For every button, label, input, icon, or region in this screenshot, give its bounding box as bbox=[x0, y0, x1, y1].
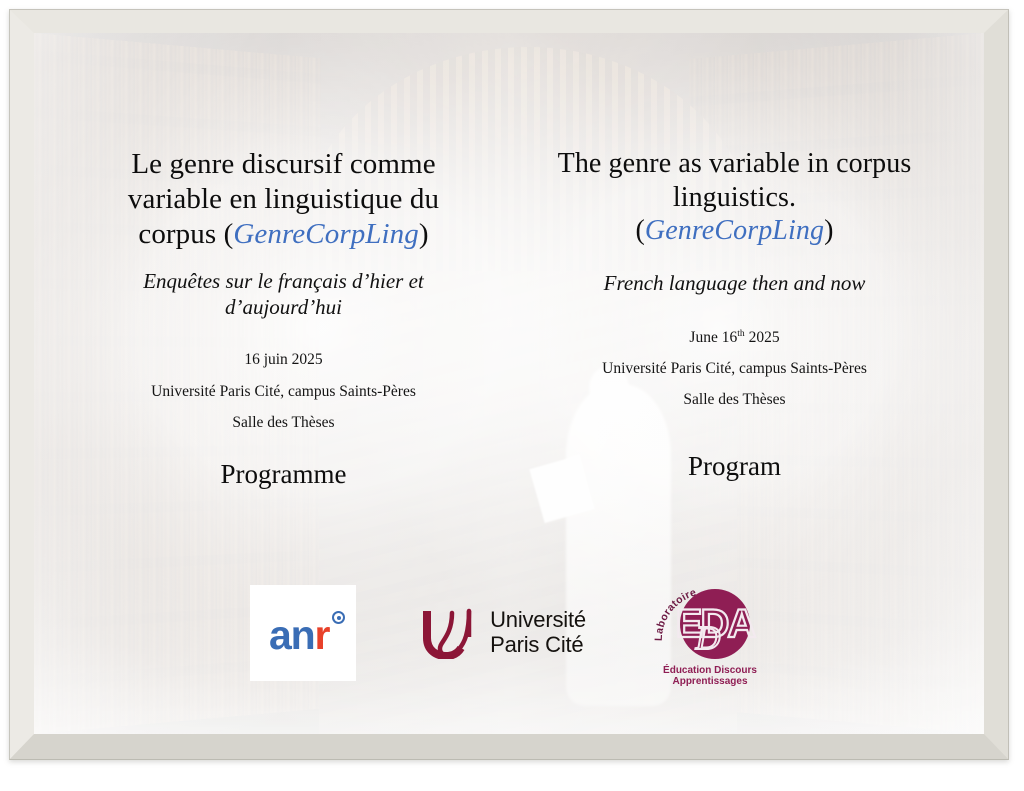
program-heading-english: Program bbox=[525, 452, 944, 482]
upc-monogram-icon bbox=[422, 607, 478, 659]
event-venue-english: Université Paris Cité, campus Saints-Pèr… bbox=[525, 353, 944, 384]
column-french: Le genre discursif comme variable en lin… bbox=[34, 147, 509, 490]
event-date-english: June 16th 2025 bbox=[525, 322, 944, 353]
page-title-english: The genre as variable in corpus linguist… bbox=[525, 147, 944, 248]
title-line-3-suffix: ) bbox=[419, 218, 429, 250]
project-name-english: GenreCorpLing bbox=[645, 215, 824, 246]
anr-wordmark: anr bbox=[269, 615, 329, 656]
title-line-3-prefix: corpus ( bbox=[138, 218, 233, 250]
event-date-prefix: June 16 bbox=[689, 329, 737, 346]
project-name-french: GenreCorpLing bbox=[233, 218, 419, 250]
sponsor-logos: anr Université Paris Cité bbox=[34, 563, 984, 703]
program-heading-french: Programme bbox=[74, 460, 493, 490]
title-line-1: Le genre discursif comme bbox=[131, 148, 435, 180]
title-line-1: The genre as variable in corpus bbox=[558, 148, 912, 179]
title-line-3-prefix: ( bbox=[635, 215, 644, 246]
upc-wordmark-line-1: Université bbox=[490, 607, 586, 632]
title-line-2: variable en linguistique du bbox=[128, 183, 439, 215]
eda-logo-icon: Laboratoire EDA D Éducation Discours App… bbox=[652, 577, 768, 689]
event-details-english: June 16th 2025 Université Paris Cité, ca… bbox=[525, 322, 944, 416]
subtitle-english: French language then and now bbox=[525, 270, 944, 296]
subtitle-french: Enquêtes sur le français d’hier et d’auj… bbox=[74, 268, 493, 320]
subtitle-line-2: d’aujourd’hui bbox=[225, 295, 342, 319]
event-room-english: Salle des Thèses bbox=[525, 384, 944, 415]
event-details-french: 16 juin 2025 Université Paris Cité, camp… bbox=[74, 344, 493, 438]
subtitle-line-1: Enquêtes sur le français d’hier et bbox=[143, 269, 424, 293]
title-line-2: linguistics. bbox=[673, 182, 796, 213]
event-date-french: 16 juin 2025 bbox=[74, 344, 493, 375]
universite-paris-cite-logo: Université Paris Cité bbox=[422, 607, 586, 659]
subtitle-line-1: French language then and now bbox=[604, 271, 866, 295]
svg-text:Apprentissages: Apprentissages bbox=[672, 676, 747, 687]
eda-laboratory-logo: Laboratoire EDA D Éducation Discours App… bbox=[652, 577, 768, 689]
page-title-french: Le genre discursif comme variable en lin… bbox=[74, 147, 493, 251]
title-line-3-suffix: ) bbox=[824, 215, 833, 246]
event-date-suffix: 2025 bbox=[745, 329, 780, 346]
anr-wordmark-red: r bbox=[314, 612, 329, 658]
anr-registered-circle-icon bbox=[332, 611, 345, 624]
upc-wordmark-line-2: Paris Cité bbox=[490, 632, 583, 657]
anr-logo: anr bbox=[250, 585, 356, 681]
poster-canvas: Le genre discursif comme variable en lin… bbox=[0, 0, 1024, 791]
poster-artwork: Le genre discursif comme variable en lin… bbox=[34, 33, 984, 734]
event-date-ordinal: th bbox=[737, 328, 744, 339]
poster-content: Le genre discursif comme variable en lin… bbox=[34, 33, 984, 734]
upc-wordmark: Université Paris Cité bbox=[490, 608, 586, 657]
column-english: The genre as variable in corpus linguist… bbox=[509, 147, 984, 490]
event-room-french: Salle des Thèses bbox=[74, 407, 493, 438]
svg-text:D: D bbox=[695, 620, 721, 657]
bilingual-columns: Le genre discursif comme variable en lin… bbox=[34, 33, 984, 490]
anr-wordmark-blue: an bbox=[269, 612, 314, 658]
event-venue-french: Université Paris Cité, campus Saints-Pèr… bbox=[74, 376, 493, 407]
svg-text:Éducation Discours: Éducation Discours bbox=[663, 663, 757, 676]
